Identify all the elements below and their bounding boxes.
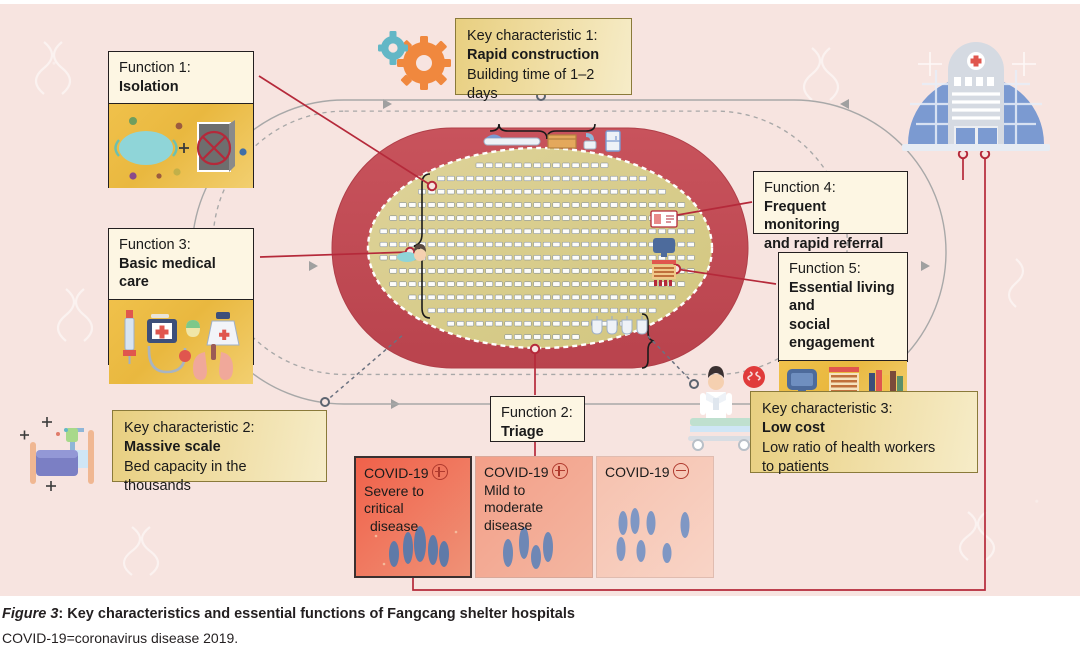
kc3-line2: Low cost bbox=[762, 420, 825, 436]
covid-positive-icon bbox=[432, 464, 448, 480]
function-1-header: Function 1: Isolation bbox=[109, 52, 253, 103]
figure-page: Function 1: Isolation bbox=[0, 0, 1080, 657]
figure-canvas: Function 1: Isolation bbox=[0, 4, 1080, 596]
triage-mild-panel[interactable]: COVID-19 Mild to moderate disease bbox=[475, 456, 593, 578]
function-1-line2: Isolation bbox=[119, 78, 244, 97]
function-4-callout[interactable]: Function 4: Frequent monitoring and rapi… bbox=[753, 171, 908, 234]
key-characteristic-2-callout[interactable]: Key characteristic 2: Massive scale Bed … bbox=[112, 410, 327, 482]
function-2-line1: Function 2: bbox=[501, 404, 575, 423]
function-3-art bbox=[109, 299, 253, 384]
function-3-callout[interactable]: Function 3: Basic medical care bbox=[108, 228, 254, 365]
figure-caption: Figure 3: Key characteristics and essent… bbox=[2, 606, 575, 622]
gurney bbox=[688, 418, 754, 450]
stretcher-icon bbox=[484, 135, 540, 146]
kc3-line4: to patients bbox=[762, 458, 966, 477]
key-characteristic-1-text: Key characteristic 1: Rapid construction… bbox=[456, 19, 631, 112]
sink-icon bbox=[584, 133, 596, 149]
figure-label: Figure 3 bbox=[2, 606, 58, 622]
kc2-line1: Key characteristic 2: bbox=[124, 419, 315, 438]
triage-severe-panel[interactable]: COVID-19 Severe to critical disease bbox=[354, 456, 472, 578]
triage-negative-figures bbox=[597, 505, 714, 569]
function-5-header: Function 5: Essential living and social … bbox=[779, 253, 907, 360]
function-2-callout[interactable]: Function 2: Triage bbox=[490, 396, 585, 442]
kc1-line2: Rapid construction bbox=[467, 47, 599, 63]
covid-positive-icon bbox=[552, 463, 568, 479]
triage-negative-label: COVID-19 bbox=[597, 457, 713, 482]
function-1-art bbox=[109, 103, 253, 188]
gears-icon bbox=[378, 28, 452, 90]
function-5-callout[interactable]: Function 5: Essential living and social … bbox=[778, 252, 908, 362]
stadium-right-icons bbox=[648, 208, 682, 288]
kc1-line3: Building time of 1–2 days bbox=[467, 66, 620, 105]
figure-footnote: COVID-19=coronavirus disease 2019. bbox=[2, 630, 238, 646]
shop-icon bbox=[652, 260, 676, 286]
function-3-line1: Function 3: bbox=[119, 236, 244, 255]
stethoscope-icon bbox=[149, 346, 185, 372]
key-characteristic-1-callout[interactable]: Key characteristic 1: Rapid construction… bbox=[455, 18, 632, 95]
desk-icon bbox=[548, 135, 576, 148]
medicine-bottle-icon bbox=[207, 312, 239, 345]
stadium-interior-icons bbox=[482, 128, 644, 154]
function-1-callout[interactable]: Function 1: Isolation bbox=[108, 51, 254, 188]
figure-title: : Key characteristics and essential func… bbox=[58, 606, 575, 622]
function-5-line2a: Essential living and bbox=[789, 279, 898, 316]
triage-negative-panel[interactable]: COVID-19 bbox=[596, 456, 714, 578]
function-5-line1: Function 5: bbox=[789, 260, 898, 279]
function-5-line2b: social engagement bbox=[789, 316, 898, 353]
lungs-icon bbox=[193, 344, 233, 380]
function-4-line2a: Frequent monitoring bbox=[764, 198, 898, 235]
medical-kit-icon bbox=[147, 314, 177, 343]
function-3-header: Function 3: Basic medical care bbox=[109, 229, 253, 299]
kc3-line3: Low ratio of health workers bbox=[762, 439, 966, 458]
triage-severe-label: COVID-19 Severe to critical disease bbox=[356, 458, 470, 535]
kc2-line2: Massive scale bbox=[124, 439, 221, 455]
tv-icon bbox=[653, 238, 675, 257]
function-1-line1: Function 1: bbox=[119, 59, 244, 78]
nurse-station-icon bbox=[651, 211, 677, 227]
cabinet-icon bbox=[606, 131, 620, 151]
pill-icon bbox=[186, 320, 200, 337]
triage-mild-label: COVID-19 Mild to moderate disease bbox=[476, 457, 592, 534]
mask-patient-icon bbox=[396, 244, 430, 266]
kc3-line1: Key characteristic 3: bbox=[762, 400, 966, 419]
function-4-header: Function 4: Frequent monitoring and rapi… bbox=[754, 172, 907, 260]
patient-bed-icon bbox=[8, 400, 112, 498]
kc1-line1: Key characteristic 1: bbox=[467, 27, 620, 46]
toilets-icon bbox=[588, 314, 650, 340]
function-2-line2: Triage bbox=[501, 423, 575, 442]
virus-particle-icon bbox=[743, 366, 765, 388]
function-3-line2: Basic medical care bbox=[119, 255, 244, 292]
hospital-building-icon bbox=[896, 34, 1056, 159]
function-4-line2b: and rapid referral bbox=[764, 235, 898, 254]
syringe-icon bbox=[123, 310, 136, 364]
kc2-line3: Bed capacity in the thousands bbox=[124, 458, 315, 497]
function-4-line1: Function 4: bbox=[764, 179, 898, 198]
key-characteristic-3-callout[interactable]: Key characteristic 3: Low cost Low ratio… bbox=[750, 391, 978, 473]
key-characteristic-2-text: Key characteristic 2: Massive scale Bed … bbox=[113, 411, 326, 504]
covid-negative-icon bbox=[673, 463, 689, 479]
key-characteristic-3-text: Key characteristic 3: Low cost Low ratio… bbox=[751, 392, 977, 485]
function-2-header: Function 2: Triage bbox=[491, 397, 584, 448]
